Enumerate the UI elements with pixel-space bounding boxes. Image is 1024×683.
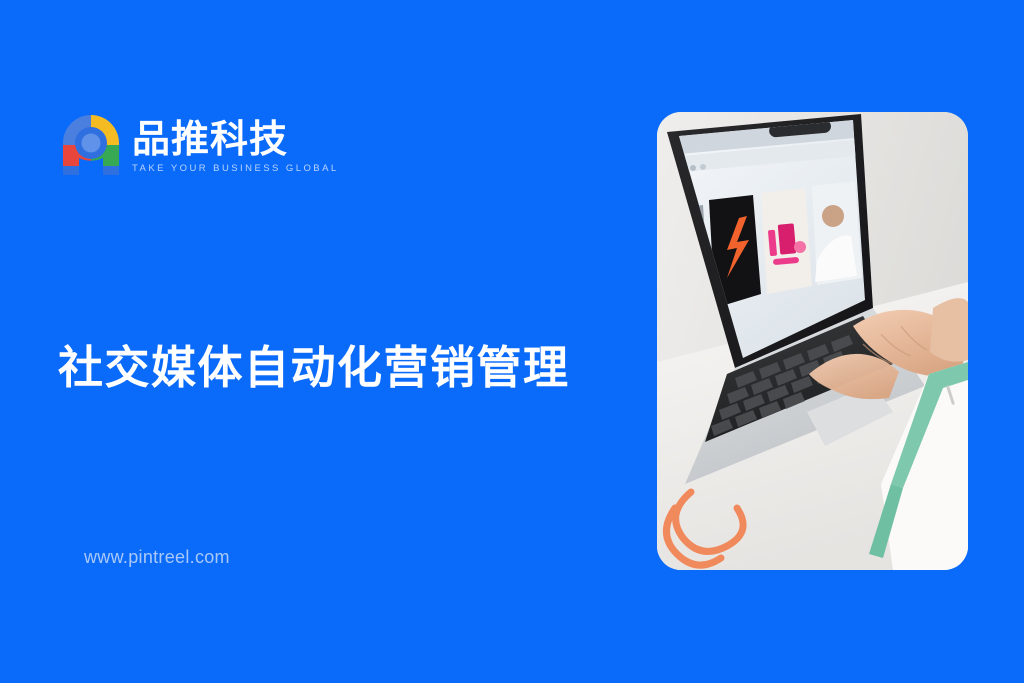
- hero-photo: [657, 112, 968, 570]
- page-title: 社交媒体自动化营销管理: [58, 340, 618, 396]
- marketing-slide: 品推科技 TAKE YOUR BUSINESS GLOBAL 社交媒体自动化营销…: [0, 0, 1024, 683]
- forearm: [930, 298, 968, 362]
- brand-name: 品推科技: [132, 119, 339, 159]
- brand-wordmark: 品推科技 TAKE YOUR BUSINESS GLOBAL: [132, 117, 339, 174]
- cosmetic-item: [778, 223, 797, 254]
- brand-tagline: TAKE YOUR BUSINESS GLOBAL: [132, 164, 339, 174]
- toolbar-dot-icon: [700, 164, 706, 170]
- site-url: www.pintreel.com: [84, 548, 230, 566]
- brand-lockup: 品推科技 TAKE YOUR BUSINESS GLOBAL: [62, 114, 339, 176]
- toolbar-dot-icon: [690, 165, 696, 171]
- logo-inner-core: [82, 134, 101, 153]
- laptop-typing-photo-illustration: [657, 112, 968, 570]
- pintreel-pa-circle-logo-icon: [62, 114, 120, 176]
- portrait-head: [822, 205, 844, 227]
- cosmetic-item: [794, 241, 806, 253]
- logo-foot-bar: [62, 166, 120, 176]
